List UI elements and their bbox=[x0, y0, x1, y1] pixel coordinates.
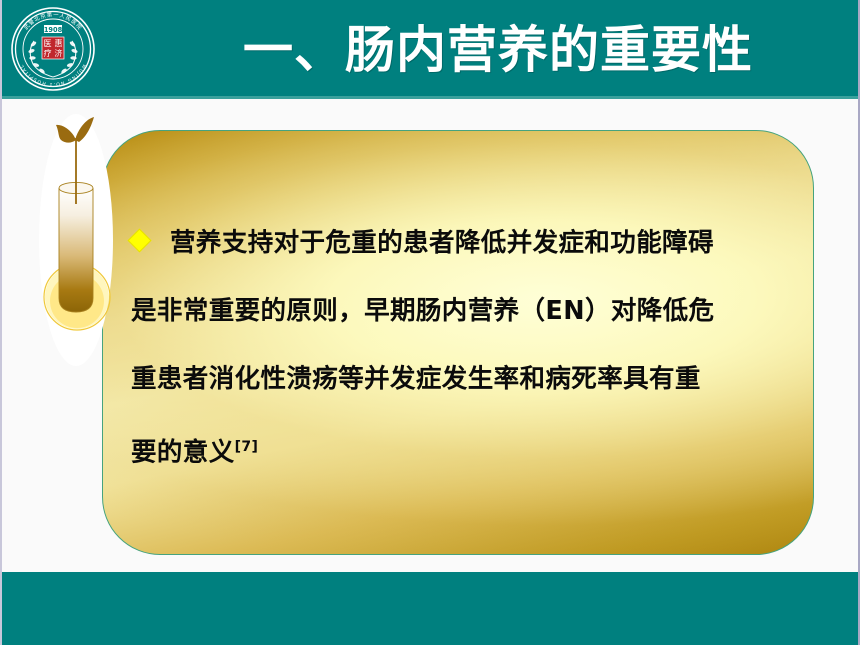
header-underline bbox=[2, 96, 860, 99]
bullet-line-4-text: 要的意义 bbox=[131, 438, 235, 468]
bullet-line-2: 是非常重要的原则，早期肠内营养（EN）对降低危 bbox=[131, 277, 791, 345]
reference-marker: [7] bbox=[235, 439, 259, 455]
svg-text:疗: 疗 bbox=[44, 48, 52, 58]
presentation-slide: 1908 医 惠 疗 济 武警北京第一人民医院 WUJING NO.1 HOSP… bbox=[0, 0, 860, 645]
sprout-in-glass-graphic bbox=[38, 112, 118, 370]
bullet-line-1-text: 营养支持对于危重的患者降低并发症和功能障碍 bbox=[170, 228, 714, 258]
bullet-line-4: 要的意义[7] bbox=[131, 413, 791, 487]
svg-text:济: 济 bbox=[55, 48, 63, 58]
bullet-line-1: 营养支持对于危重的患者降低并发症和功能障碍 bbox=[131, 209, 791, 277]
svg-text:惠: 惠 bbox=[55, 38, 63, 48]
slide-title: 一、肠内营养的重要性 bbox=[198, 10, 798, 90]
hospital-seal-logo: 1908 医 惠 疗 济 武警北京第一人民医院 WUJING NO.1 HOSP… bbox=[11, 7, 95, 91]
svg-text:1908: 1908 bbox=[44, 26, 63, 34]
svg-text:医: 医 bbox=[44, 39, 52, 48]
diamond-bullet-icon bbox=[127, 228, 151, 252]
slide-footer-band bbox=[2, 572, 860, 645]
panel-text-body: 营养支持对于危重的患者降低并发症和功能障碍 是非常重要的原则，早期肠内营养（EN… bbox=[131, 209, 791, 487]
content-panel: 营养支持对于危重的患者降低并发症和功能障碍 是非常重要的原则，早期肠内营养（EN… bbox=[102, 130, 814, 555]
bullet-line-3: 重患者消化性溃疡等并发症发生率和病死率具有重 bbox=[131, 345, 791, 413]
